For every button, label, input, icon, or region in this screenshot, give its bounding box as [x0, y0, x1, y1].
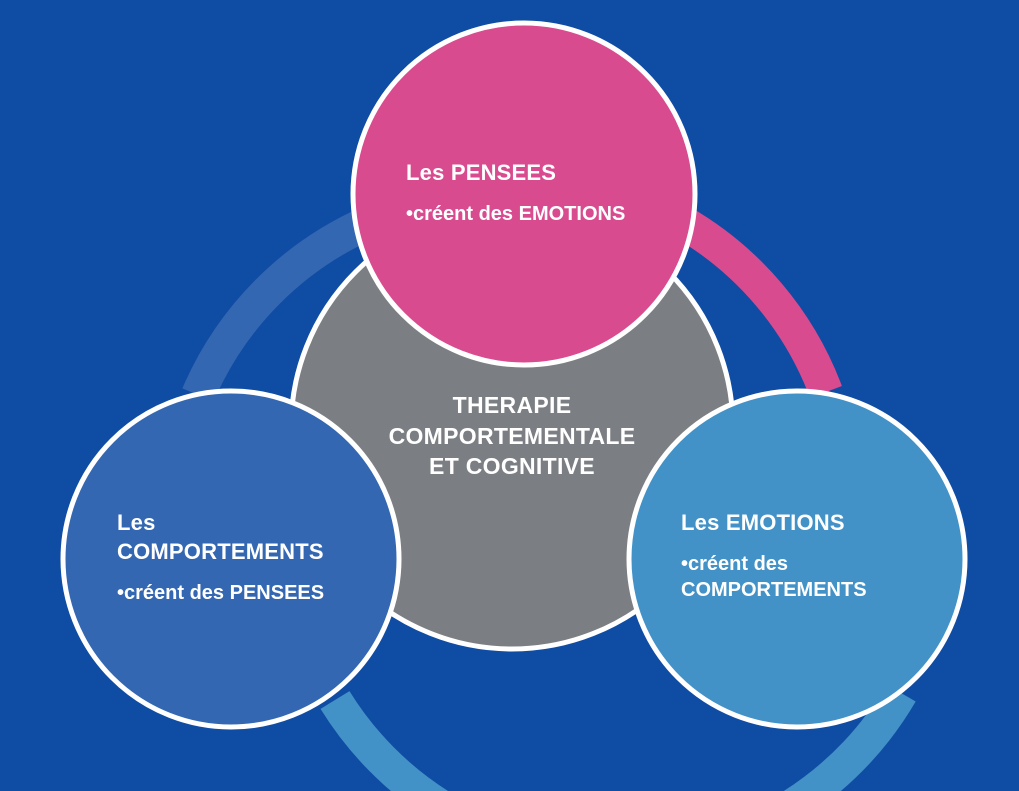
thoughts-circle[interactable] — [353, 23, 695, 365]
behaviours-circle[interactable] — [63, 391, 399, 727]
diagram-canvas: Les PENSEES •créent des EMOTIONS Les COM… — [0, 0, 1019, 791]
emotions-circle[interactable] — [629, 391, 965, 727]
tcc-cycle-diagram — [0, 0, 1019, 791]
